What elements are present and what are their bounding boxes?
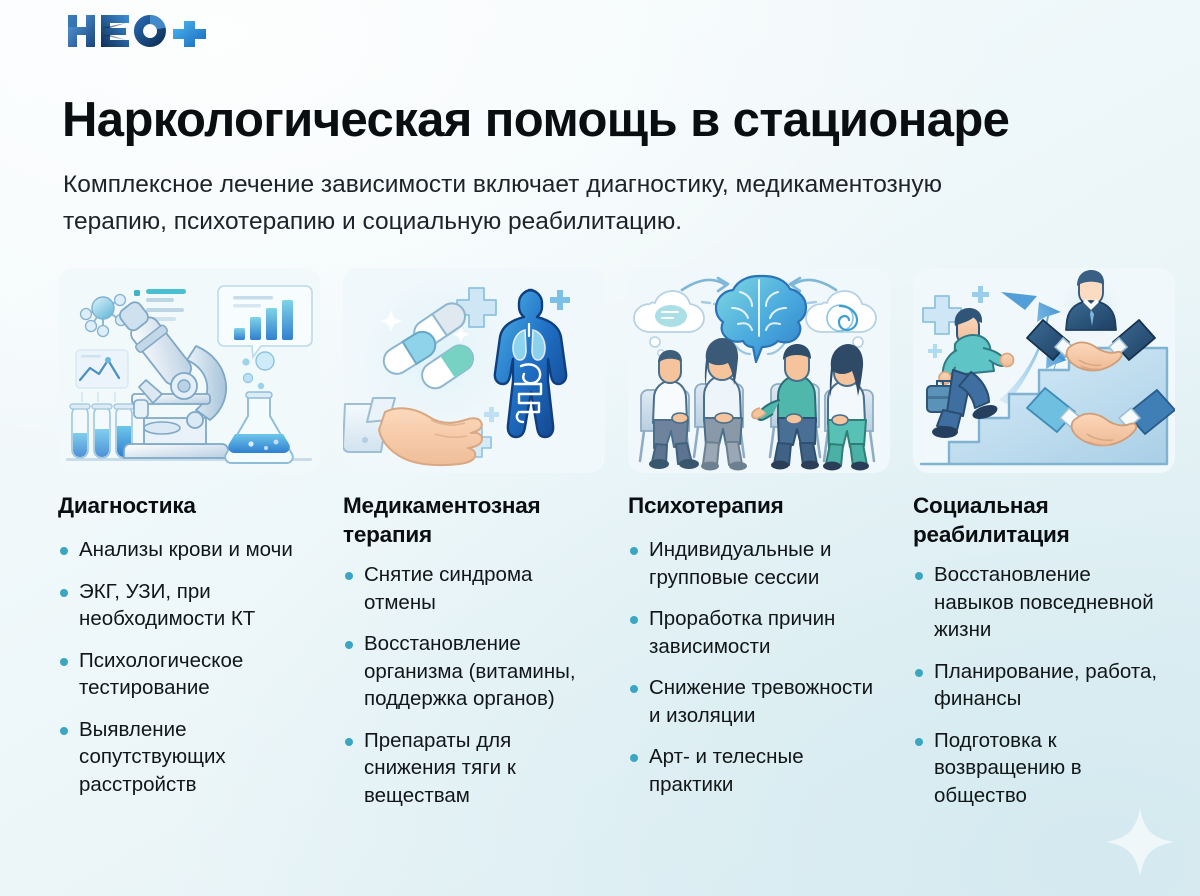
list-item: Проработка причин зависимости	[628, 605, 880, 660]
column-title-social-rehab: Социальная реабилитация	[913, 491, 1163, 549]
feature-list-social-rehab: Восстановление навыков повседневной жизн…	[913, 561, 1165, 809]
list-item: Подготовка к возвращению в общество	[913, 727, 1165, 810]
page-title: Наркологическая помощь в стационаре	[62, 91, 1162, 149]
column-title-psychotherapy: Психотерапия	[628, 491, 878, 520]
column-title-medication: Медикаментозная терапия	[343, 491, 605, 549]
stairs-handshake-icon	[913, 268, 1175, 473]
neo-plus-logo-icon	[64, 10, 214, 52]
service-columns: Диагностика Анализы крови и мочи ЭКГ, УЗ…	[0, 268, 1200, 823]
list-item: Препараты для снижения тяги к веществам	[343, 727, 595, 810]
infographic-poster: Наркологическая помощь в стационаре Комп…	[0, 0, 1200, 896]
list-item: Выявление сопутствующих расстройств	[58, 716, 310, 799]
list-item: Планирование, работа, финансы	[913, 658, 1165, 713]
list-item: Анализы крови и мочи	[58, 536, 310, 564]
column-medication: Медикаментозная терапия Снятие синдрома …	[343, 268, 628, 823]
feature-list-medication: Снятие синдрома отмены Восстановление ор…	[343, 561, 595, 809]
feature-list-diagnostics: Анализы крови и мочи ЭКГ, УЗИ, при необх…	[58, 536, 310, 798]
feature-list-psychotherapy: Индивидуальные и групповые сессии Прораб…	[628, 536, 880, 798]
microscope-lab-icon	[58, 268, 320, 473]
page-subtitle: Комплексное лечение зависимости включает…	[63, 166, 963, 240]
list-item: Индивидуальные и групповые сессии	[628, 536, 880, 591]
list-item: Психологическое тестирование	[58, 647, 310, 702]
list-item: Снижение тревожности и изоляции	[628, 674, 880, 729]
column-psychotherapy: Психотерапия Индивидуальные и групповые …	[628, 268, 913, 823]
column-social-rehab: Социальная реабилитация Восстановление н…	[913, 268, 1198, 823]
column-diagnostics: Диагностика Анализы крови и мочи ЭКГ, УЗ…	[58, 268, 343, 823]
list-item: ЭКГ, УЗИ, при необходимости КТ	[58, 578, 310, 633]
pills-hand-body-icon	[343, 268, 605, 473]
group-therapy-brain-icon	[628, 268, 890, 473]
list-item: Восстановление навыков повседневной жизн…	[913, 561, 1165, 644]
list-item: Снятие синдрома отмены	[343, 561, 595, 616]
list-item: Восстановление организма (витамины, подд…	[343, 630, 595, 713]
column-title-diagnostics: Диагностика	[58, 491, 308, 520]
list-item: Арт- и телесные практики	[628, 743, 880, 798]
brand-logo	[64, 10, 214, 52]
